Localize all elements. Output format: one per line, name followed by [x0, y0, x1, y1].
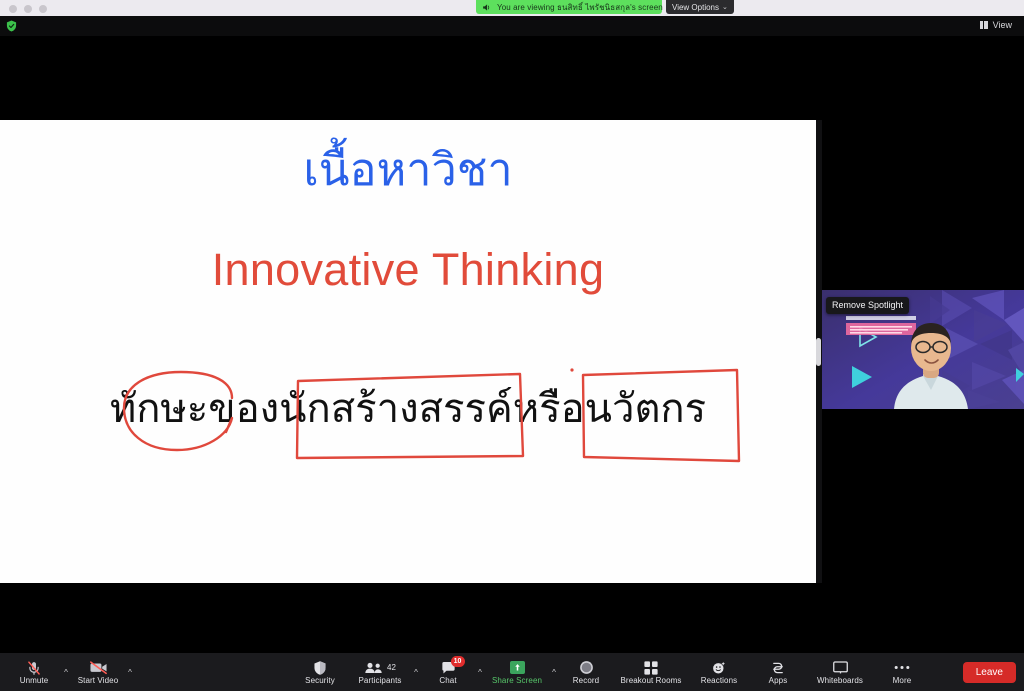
record-button[interactable]: Record — [558, 653, 614, 691]
record-label: Record — [573, 677, 599, 685]
window-close-button[interactable] — [9, 5, 17, 13]
reactions-label: Reactions — [701, 677, 737, 685]
meeting-top-bar — [0, 16, 1024, 36]
more-label: More — [893, 677, 912, 685]
encryption-shield-icon[interactable] — [6, 19, 17, 31]
record-circle-icon — [579, 659, 594, 676]
more-button[interactable]: More — [874, 653, 930, 691]
participants-count: 42 — [387, 663, 396, 672]
shared-screen-slide[interactable]: เนื้อหาวิชา Innovative Thinking ทักษะของ… — [0, 120, 816, 583]
start-video-button[interactable]: Start Video — [70, 653, 126, 691]
view-layout-button[interactable]: View — [976, 18, 1016, 32]
reactions-button[interactable]: Reactions — [688, 653, 750, 691]
chat-button[interactable]: 10 Chat — [420, 653, 476, 691]
screen-share-banner-text: You are viewing ธนสิทธิ์ ไพรัชนิธสกุล's … — [497, 1, 663, 14]
view-label: View — [993, 20, 1012, 30]
grid-squares-icon — [644, 659, 658, 676]
share-screen-icon — [510, 659, 525, 676]
security-button[interactable]: Security — [292, 653, 348, 691]
whiteboard-icon — [833, 659, 848, 676]
meeting-toolbar: Unmute ^ Start Video ^ Security — [0, 653, 1024, 691]
ellipsis-icon — [894, 659, 910, 676]
chat-label: Chat — [439, 677, 456, 685]
share-screen-button[interactable]: Share Screen — [484, 653, 550, 691]
share-screen-label: Share Screen — [492, 677, 542, 685]
speaker-icon — [482, 3, 491, 12]
chat-bubble-icon: 10 — [441, 659, 456, 676]
chat-unread-badge: 10 — [451, 656, 465, 667]
whiteboards-button[interactable]: Whiteboards — [806, 653, 874, 691]
video-muted-icon — [89, 659, 108, 676]
leave-label: Leave — [976, 667, 1003, 678]
window-minimize-button[interactable] — [24, 5, 32, 13]
window-zoom-button[interactable] — [39, 5, 47, 13]
view-options-label: View Options — [672, 3, 719, 12]
unmute-button[interactable]: Unmute — [6, 653, 62, 691]
chevron-down-icon: ⌄ — [722, 3, 728, 11]
view-options-button[interactable]: View Options ⌄ — [666, 0, 734, 14]
panel-drag-handle[interactable] — [816, 338, 821, 366]
participants-button[interactable]: 42 Participants — [348, 653, 412, 691]
people-icon: 42 — [364, 659, 396, 676]
slide-body-text: ทักษะของนักสร้างสรรค์หรือนวัตกร — [0, 385, 816, 433]
apps-icon — [771, 659, 785, 676]
annotation-dot — [570, 368, 573, 371]
leave-button[interactable]: Leave — [963, 662, 1016, 683]
participants-label: Participants — [359, 677, 402, 685]
start-video-label: Start Video — [78, 677, 119, 685]
security-label: Security — [305, 677, 335, 685]
smiley-reaction-icon — [712, 659, 726, 676]
layout-grid-icon — [980, 21, 989, 29]
shield-icon — [313, 659, 327, 676]
whiteboards-label: Whiteboards — [817, 677, 863, 685]
breakout-rooms-button[interactable]: Breakout Rooms — [614, 653, 688, 691]
apps-button[interactable]: Apps — [750, 653, 806, 691]
microphone-muted-icon — [26, 659, 42, 676]
breakout-rooms-label: Breakout Rooms — [621, 677, 682, 685]
apps-label: Apps — [769, 677, 788, 685]
unmute-label: Unmute — [20, 677, 49, 685]
slide-title: เนื้อหาวิชา — [0, 142, 816, 198]
screen-share-banner: You are viewing ธนสิทธิ์ ไพรัชนิธสกุล's … — [476, 0, 662, 14]
remove-spotlight-tooltip[interactable]: Remove Spotlight — [826, 297, 909, 314]
slide-subtitle: Innovative Thinking — [0, 245, 816, 295]
